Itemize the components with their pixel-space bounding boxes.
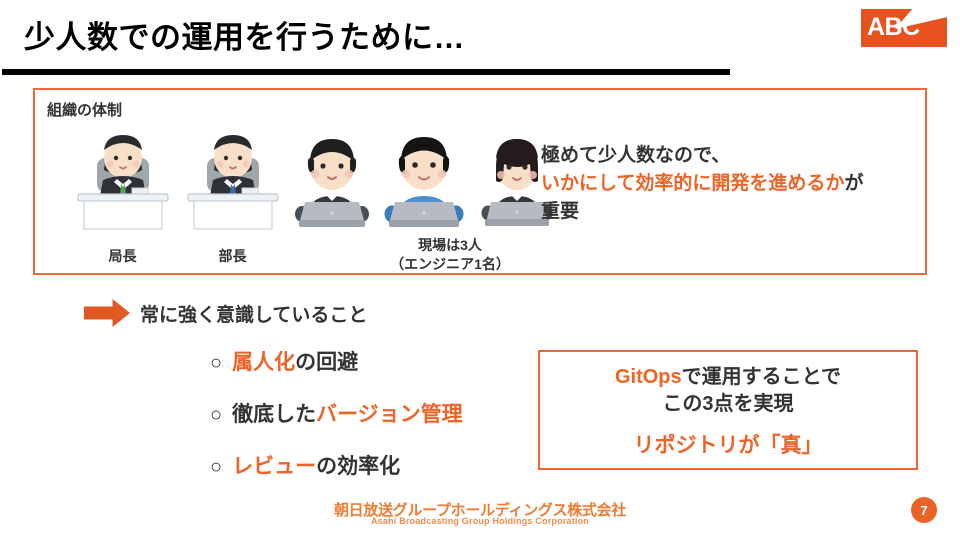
- figure-caption-department-head: 部長: [180, 246, 285, 266]
- bullet-item-1-highlight: 属人化: [232, 351, 295, 374]
- page-title: 少人数での運用を行うために…: [24, 12, 465, 57]
- organization-structure-label: 組織の体制: [47, 99, 122, 120]
- figure-laptop-worker-engineer: [380, 132, 468, 230]
- desk-manager-illustration: [180, 132, 285, 232]
- organization-structure-box: 組織の体制 局長: [33, 88, 927, 275]
- footer-company-name-en: Asahi Broadcasting Group Holdings Corpor…: [0, 516, 960, 526]
- bullet-item-1: ○属人化の回避: [210, 346, 358, 376]
- gitops-line2: この3点を実現: [540, 391, 916, 418]
- laptop-worker-illustration: [380, 132, 468, 230]
- org-message-line3: 重要: [541, 198, 863, 226]
- org-message-line2-highlight: いかにして効率的に開発を進めるか: [541, 173, 844, 194]
- bullet-item-2: ○徹底したバージョン管理: [210, 398, 463, 428]
- figure-caption-bureau-chief: 局長: [70, 246, 175, 266]
- desk-manager-illustration: [70, 132, 175, 232]
- gitops-line1-highlight: GitOps: [615, 366, 682, 388]
- bullet-item-2-plain: 徹底した: [232, 403, 316, 426]
- bullet-item-2-highlight: バージョン管理: [316, 403, 463, 426]
- abc-logo: ABC: [861, 9, 947, 47]
- org-message-line2-tail: が: [844, 173, 863, 194]
- page-number-badge: 7: [911, 497, 937, 523]
- gitops-conclusion-box: GitOpsで運用することで この3点を実現 リポジトリが「真」: [538, 350, 918, 470]
- figure-bureau-chief: [70, 132, 175, 232]
- gitops-line1: GitOpsで運用することで: [540, 364, 916, 391]
- team-size-caption-line1: 現場は3人: [335, 236, 565, 255]
- arrow-right-icon: [84, 299, 130, 327]
- focus-heading: 常に強く意識していること: [140, 300, 367, 327]
- org-message-line2: いかにして効率的に開発を進めるかが: [541, 170, 863, 198]
- team-size-caption-line2: （エンジニア1名）: [335, 255, 565, 274]
- bullet-circle-icon: ○: [210, 404, 222, 427]
- laptop-worker-illustration: [291, 134, 373, 230]
- bullet-item-3-highlight: レビュー: [232, 455, 316, 478]
- gitops-line1-tail: で運用することで: [682, 366, 841, 388]
- bullet-circle-icon: ○: [210, 352, 222, 375]
- org-message-line1: 極めて少人数なので、: [541, 142, 863, 170]
- bullet-item-3-plain: の効率化: [316, 455, 400, 478]
- org-message: 極めて少人数なので、 いかにして効率的に開発を進めるかが 重要: [541, 142, 863, 226]
- team-size-caption: 現場は3人 （エンジニア1名）: [335, 236, 565, 274]
- gitops-line3: リポジトリが「真」: [540, 429, 916, 459]
- bullet-circle-icon: ○: [210, 456, 222, 479]
- figure-laptop-worker-1: [291, 134, 373, 230]
- figure-department-head: [180, 132, 285, 232]
- bullet-item-1-plain: の回避: [295, 351, 358, 374]
- gitops-text-top: GitOpsで運用することで この3点を実現: [540, 364, 916, 418]
- title-underline-rule: [2, 69, 730, 75]
- bullet-item-3: ○レビューの効率化: [210, 450, 400, 480]
- slide-root: 少人数での運用を行うために… ABC 組織の体制: [0, 0, 960, 540]
